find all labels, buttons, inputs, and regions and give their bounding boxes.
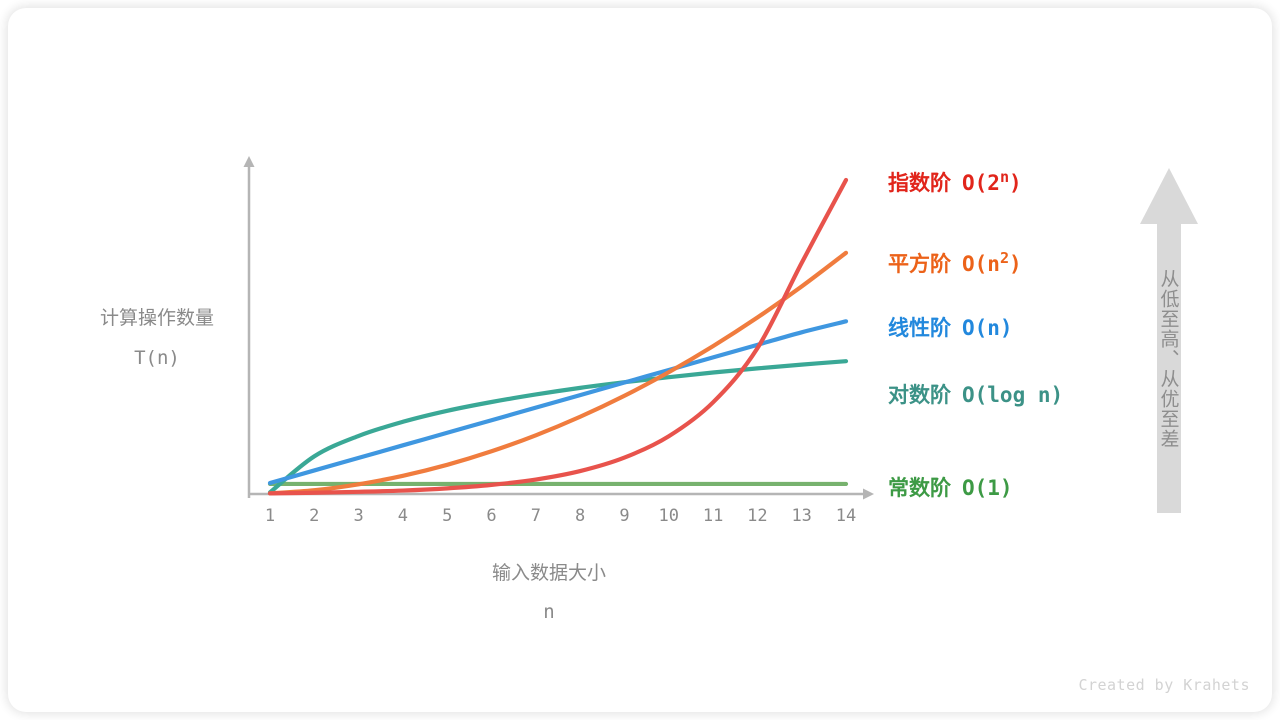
x-tick-label: 11 [703, 506, 723, 526]
curves-layer [270, 180, 846, 493]
x-tick-label: 12 [747, 506, 767, 526]
x-tick-label: 14 [836, 506, 856, 526]
x-tick-label: 9 [619, 506, 629, 526]
complexity-chart: 1234567891011121314 计算操作数量T(n)输入数据大小n [8, 8, 1272, 712]
legend-item-4: 对数阶O(log n) [888, 385, 1063, 406]
x-axis-title-var: n [543, 601, 554, 623]
legend-formula-tail: ) [1009, 171, 1022, 195]
x-tick-label: 6 [486, 506, 496, 526]
x-axis-title-cn: 输入数据大小 [492, 562, 606, 584]
legend-item-name: 平方阶 [888, 252, 951, 276]
curve-o-2-n- [270, 180, 846, 493]
legend-formula-base: O(1) [962, 476, 1013, 500]
footer-credit: Created by Krahets [1078, 676, 1250, 694]
axis-titles: 计算操作数量T(n)输入数据大小n [100, 307, 606, 623]
axes-layer [244, 156, 875, 500]
x-tick-label: 13 [791, 506, 811, 526]
x-axis-ticks: 1234567891011121314 [265, 506, 856, 526]
y-axis-title-cn: 计算操作数量 [100, 307, 214, 329]
legend-item-name: 线性阶 [888, 316, 951, 340]
legend-item-name: 常数阶 [888, 476, 951, 500]
legend-item-formula: O(1) [962, 476, 1013, 500]
x-tick-label: 5 [442, 506, 452, 526]
legend-formula-base: O(2 [962, 171, 1000, 195]
screenshot-root: 1234567891011121314 计算操作数量T(n)输入数据大小n 指数… [0, 0, 1280, 720]
x-tick-label: 7 [531, 506, 541, 526]
chart-card: 1234567891011121314 计算操作数量T(n)输入数据大小n 指数… [8, 8, 1272, 712]
legend-item-name: 对数阶 [888, 383, 951, 407]
legend-item-formula: O(n) [962, 316, 1013, 340]
legend-formula-base: O(log n) [962, 383, 1063, 407]
legend-item-formula: O(n2) [962, 252, 1022, 276]
legend-item-formula: O(log n) [962, 383, 1063, 407]
legend-formula-base: O(n) [962, 316, 1013, 340]
legend-formula-exponent: n [1000, 168, 1009, 186]
x-tick-label: 10 [659, 506, 679, 526]
legend-item-5: 常数阶O(1) [888, 478, 1013, 499]
x-tick-label: 2 [309, 506, 319, 526]
legend-formula-tail: ) [1009, 252, 1022, 276]
x-tick-label: 4 [398, 506, 408, 526]
y-axis-title-var: T(n) [134, 347, 180, 369]
x-tick-label: 1 [265, 506, 275, 526]
y-axis-arrowhead [244, 156, 255, 167]
x-tick-label: 3 [353, 506, 363, 526]
legend-item-name: 指数阶 [888, 171, 951, 195]
legend-formula-exponent: 2 [1000, 249, 1009, 267]
ranking-arrow-icon [1140, 168, 1198, 513]
legend-item-3: 线性阶O(n) [888, 318, 1013, 339]
legend-item-1: 指数阶O(2n) [888, 173, 1022, 194]
legend-item-formula: O(2n) [962, 171, 1022, 195]
x-tick-label: 8 [575, 506, 585, 526]
x-axis-arrowhead [863, 489, 874, 500]
legend-formula-base: O(n [962, 252, 1000, 276]
legend-item-2: 平方阶O(n2) [888, 254, 1022, 275]
